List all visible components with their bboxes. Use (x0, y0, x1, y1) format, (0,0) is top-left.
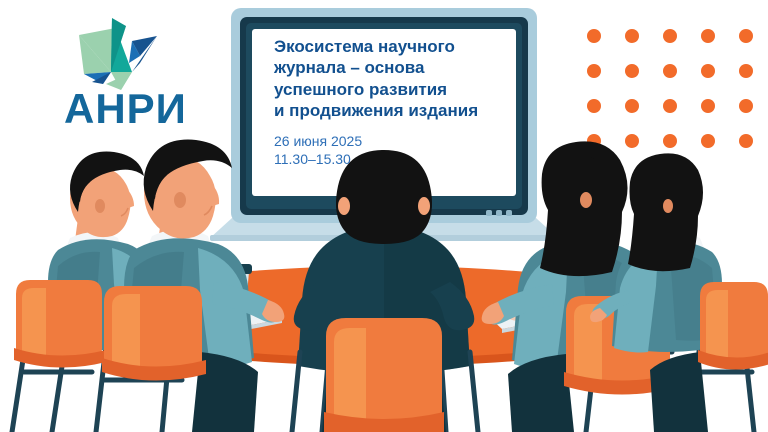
slide-date: 26 июня 2025 (274, 132, 514, 150)
anri-wordmark: АНРИ (64, 88, 224, 130)
slide-time: 11.30–15.30 (274, 150, 514, 168)
slide-title-line-1: Экосистема научного (274, 36, 514, 57)
chair-left-near (102, 286, 206, 381)
slide-title-line-4: и продвижения издания (274, 100, 514, 121)
chair-center (324, 318, 444, 432)
slide-title-line-2: журнала – основа (274, 57, 514, 78)
chair-right-far (698, 282, 768, 370)
anri-wordmark-text: АНРИ (64, 85, 187, 132)
poster-canvas: АНРИ Экосистема научного журнала – основ… (0, 0, 768, 432)
chair-left-far (14, 280, 106, 368)
slide-title-line-3: успешного развития (274, 79, 514, 100)
slide-text-block: Экосистема научного журнала – основа усп… (274, 36, 514, 169)
slide-meta: 26 июня 2025 11.30–15.30 (274, 132, 514, 169)
slide-title: Экосистема научного журнала – основа усп… (274, 36, 514, 122)
